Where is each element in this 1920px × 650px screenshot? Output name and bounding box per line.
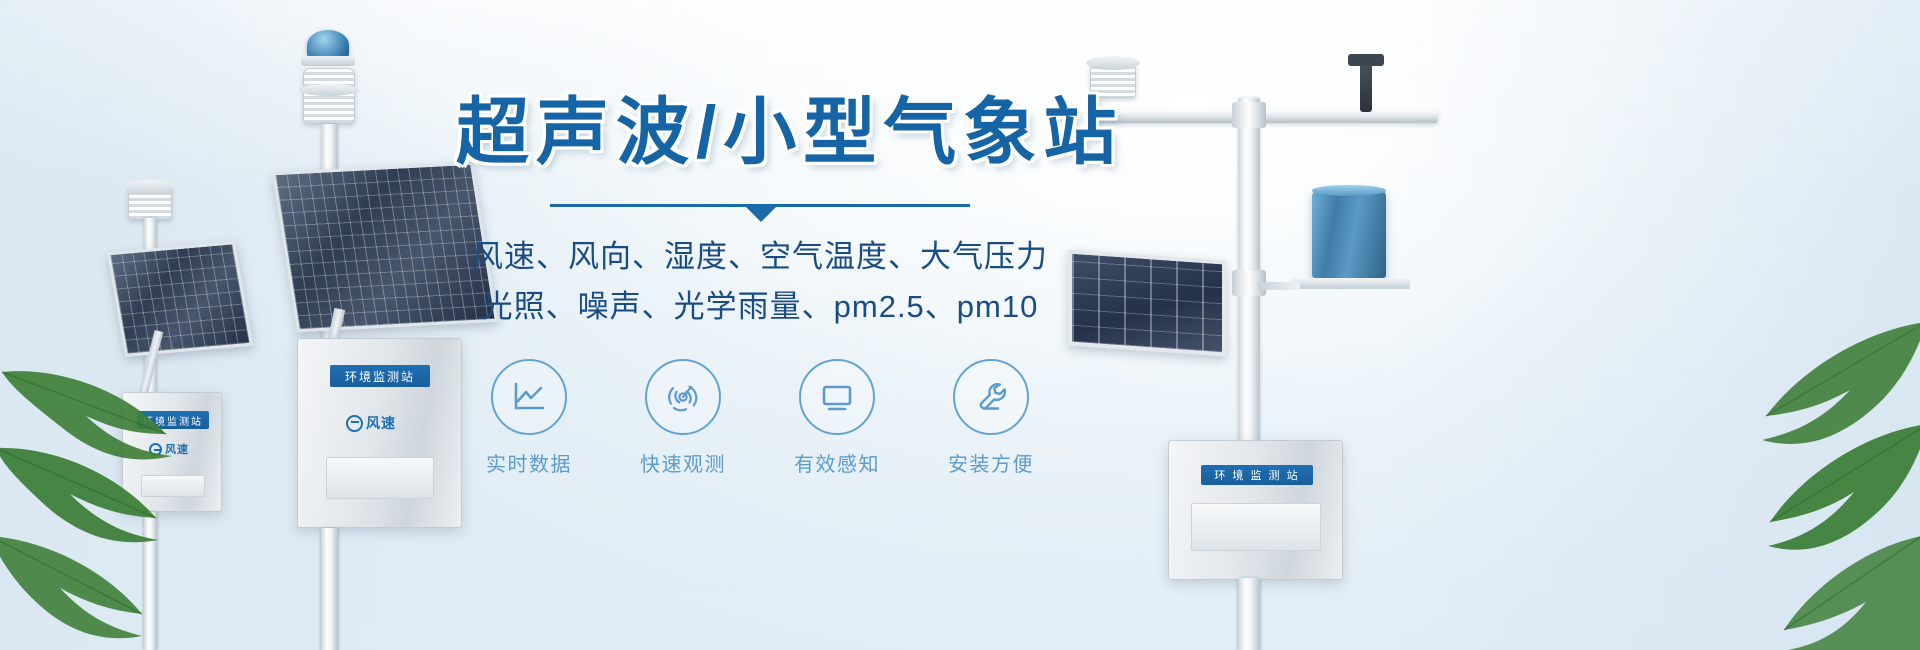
shield-disc-mid xyxy=(299,84,359,96)
feature-item-effective-sensing[interactable]: 有效感知 xyxy=(782,359,892,477)
brand-logo-mid: 风速 xyxy=(346,413,396,433)
solar-panel-right xyxy=(1068,249,1226,356)
monitor-icon xyxy=(799,359,875,435)
dome-base-mid xyxy=(301,56,355,66)
enclosure-mid: 环境监测站 风速 xyxy=(297,338,462,528)
page-title: 超声波/小型气象站 xyxy=(450,96,1070,169)
enclosure-hatch-right xyxy=(1191,503,1321,551)
mast-lower-mid xyxy=(321,528,338,650)
leaf-decoration-right xyxy=(1698,300,1920,650)
line-chart-icon xyxy=(491,359,567,435)
feature-label: 有效感知 xyxy=(782,448,892,477)
radiation-shield-mid xyxy=(303,68,355,124)
feature-list: 实时数据 快速观测 xyxy=(450,359,1070,477)
leaf-decoration-left xyxy=(0,330,200,650)
brand-mark-icon xyxy=(346,415,363,432)
feature-item-fast-observation[interactable]: 快速观测 xyxy=(628,359,738,477)
product-photo-right-station: 环 境 监 测 站 xyxy=(1060,40,1480,650)
wrench-icon xyxy=(953,359,1029,435)
rain-gauge-right xyxy=(1312,190,1386,278)
radar-wave-icon xyxy=(645,359,721,435)
subtitle-line-1: 风速、风向、湿度、空气温度、大气压力 xyxy=(450,233,1070,281)
anemometer-vane-right xyxy=(1348,54,1384,66)
weather-station-banner: 环境监测站 风速 环境监测站 风速 xyxy=(0,0,1920,650)
mast-collar-top-right xyxy=(1232,102,1266,128)
feature-label: 实时数据 xyxy=(474,448,584,477)
enclosure-hatch-mid xyxy=(326,457,434,499)
mast-base-right xyxy=(1238,578,1260,650)
enclosure-right: 环 境 监 测 站 xyxy=(1168,440,1343,580)
divider xyxy=(550,197,970,219)
shelf-bracket-right xyxy=(1258,282,1300,290)
brand-name-mid: 风速 xyxy=(366,413,396,433)
feature-item-realtime-data[interactable]: 实时数据 xyxy=(474,359,584,477)
enclosure-plate-mid: 环境监测站 xyxy=(330,365,430,387)
sensor-cap-left xyxy=(126,180,174,194)
enclosure-plate-right: 环 境 监 测 站 xyxy=(1201,465,1313,485)
rain-gauge-shelf-right xyxy=(1292,278,1410,289)
anemometer-post-right xyxy=(1360,58,1372,112)
feature-label: 快速观测 xyxy=(628,448,738,477)
feature-item-easy-install[interactable]: 安装方便 xyxy=(936,359,1046,477)
sensor-cap-right xyxy=(1086,56,1140,70)
banner-content: 超声波/小型气象站 风速、风向、湿度、空气温度、大气压力 光照、噪声、光学雨量、… xyxy=(450,96,1070,477)
subtitle-line-2: 光照、噪声、光学雨量、pm2.5、pm10 xyxy=(450,283,1070,331)
feature-label: 安装方便 xyxy=(936,448,1046,477)
divider-triangle-icon xyxy=(746,207,776,222)
